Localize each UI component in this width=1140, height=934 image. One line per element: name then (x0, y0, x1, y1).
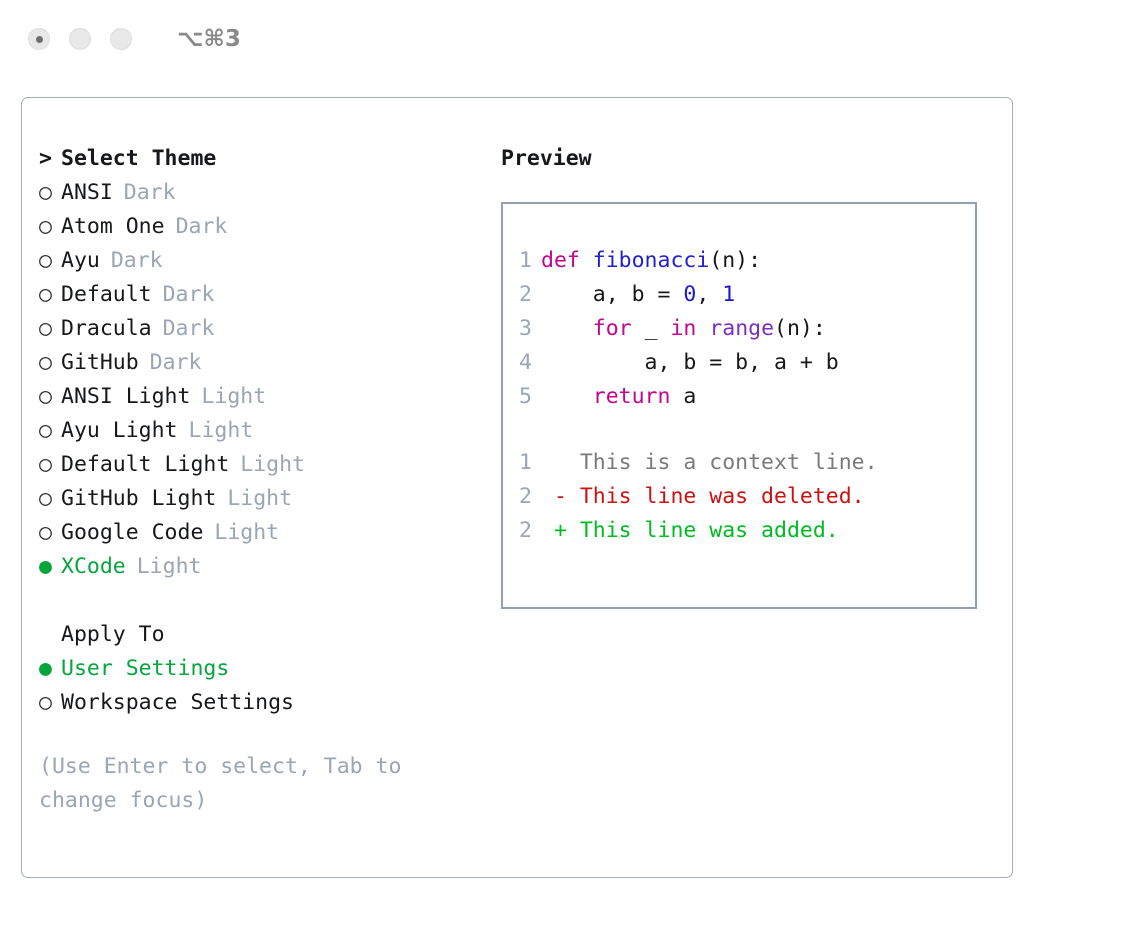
code-line: 5 return a (503, 384, 975, 418)
theme-list-item[interactable]: ○GitHub LightLight (39, 486, 469, 520)
line-number: 3 (503, 316, 541, 341)
code-token: a, b = b, a + b (541, 350, 839, 375)
maximize-button[interactable] (110, 28, 132, 50)
theme-list-item[interactable]: ○ANSIDark (39, 180, 469, 214)
code-line: 1def fibonacci(n): (503, 248, 975, 282)
apply-to-header: . Apply To (39, 622, 469, 656)
list-spacer (39, 588, 469, 622)
caret-icon: > (39, 148, 61, 170)
diff-line: 2 + This line was added. (503, 518, 975, 552)
theme-name: GitHub Light (61, 486, 216, 511)
diff-sign: + (541, 518, 567, 543)
theme-list-item[interactable]: ○AyuDark (39, 248, 469, 282)
radio-unselected-icon: ○ (39, 420, 61, 442)
diff-sign (541, 450, 567, 475)
radio-unselected-icon: ○ (39, 454, 61, 476)
theme-category: Dark (163, 316, 215, 341)
line-number: 1 (503, 450, 541, 475)
line-number: 2 (503, 518, 541, 543)
code-preview-box: 1def fibonacci(n):2 a, b = 0, 13 for _ i… (501, 202, 977, 609)
code-line: 3 for _ in range(n): (503, 316, 975, 350)
diff-line: 2 - This line was deleted. (503, 484, 975, 518)
radio-unselected-icon: ○ (39, 250, 61, 272)
theme-name: Atom One (61, 214, 165, 239)
theme-name: Ayu Light (61, 418, 178, 443)
theme-category: Light (227, 486, 292, 511)
apply-to-option[interactable]: ●User Settings (39, 656, 469, 690)
preview-column: Preview 1def fibonacci(n):2 a, b = 0, 13… (501, 146, 991, 609)
diff-sign: - (541, 484, 567, 509)
theme-list-item[interactable]: ●XCodeLight (39, 554, 469, 588)
active-dot-icon (36, 36, 43, 43)
apply-to-option[interactable]: ○Workspace Settings (39, 690, 469, 724)
diff-text: This line was added. (567, 518, 839, 543)
radio-unselected-icon: ○ (39, 352, 61, 374)
theme-name: Ayu (61, 248, 100, 273)
line-number: 2 (503, 484, 541, 509)
code-token (541, 384, 593, 409)
code-token: , (696, 282, 722, 307)
code-token: (n): (709, 248, 761, 273)
apply-to-label: Workspace Settings (61, 690, 294, 715)
theme-name: Dracula (61, 316, 152, 341)
code-gap (503, 418, 975, 450)
radio-selected-icon: ● (39, 658, 61, 680)
code-line: 4 a, b = b, a + b (503, 350, 975, 384)
theme-list-item[interactable]: ○DefaultDark (39, 282, 469, 316)
radio-unselected-icon: ○ (39, 182, 61, 204)
theme-list-item[interactable]: ○Ayu LightLight (39, 418, 469, 452)
theme-list-item[interactable]: ○DraculaDark (39, 316, 469, 350)
theme-category: Light (189, 418, 254, 443)
theme-category: Dark (150, 350, 202, 375)
apply-to-list: ●User Settings○Workspace Settings (39, 656, 469, 724)
code-token (541, 316, 593, 341)
code-token: a, b = (541, 282, 683, 307)
app-window: ⌥⌘3 > Select Theme ○ANSIDark○Atom OneDar… (0, 0, 1140, 934)
minimize-button[interactable] (69, 28, 91, 50)
radio-selected-icon: ● (39, 556, 61, 578)
theme-list-item[interactable]: ○Default LightLight (39, 452, 469, 486)
code-token: 0 (683, 282, 696, 307)
select-theme-title: Select Theme (61, 146, 216, 171)
theme-name: Default (61, 282, 152, 307)
code-token: (n): (774, 316, 826, 341)
code-token: _ (632, 316, 671, 341)
theme-category: Light (214, 520, 279, 545)
theme-category: Dark (163, 282, 215, 307)
line-number: 4 (503, 350, 541, 375)
code-token: 1 (722, 282, 735, 307)
theme-name: GitHub (61, 350, 139, 375)
close-button[interactable] (28, 28, 50, 50)
radio-unselected-icon: ○ (39, 522, 61, 544)
theme-category: Dark (176, 214, 228, 239)
diff-line: 1 This is a context line. (503, 450, 975, 484)
theme-category: Light (240, 452, 305, 477)
theme-list-item[interactable]: ○Atom OneDark (39, 214, 469, 248)
code-token: fibonacci (593, 248, 710, 273)
apply-to-label: User Settings (61, 656, 229, 681)
radio-unselected-icon: ○ (39, 284, 61, 306)
theme-name: ANSI Light (61, 384, 190, 409)
code-token: def (541, 248, 593, 273)
theme-list-item[interactable]: ○ANSI LightLight (39, 384, 469, 418)
theme-name: Default Light (61, 452, 229, 477)
radio-unselected-icon: ○ (39, 386, 61, 408)
theme-name: XCode (61, 554, 126, 579)
theme-list-item[interactable]: ○GitHubDark (39, 350, 469, 384)
code-token: range (709, 316, 774, 341)
code-line: 2 a, b = 0, 1 (503, 282, 975, 316)
select-theme-header: > Select Theme (39, 146, 469, 180)
theme-selection-column: > Select Theme ○ANSIDark○Atom OneDark○Ay… (39, 146, 469, 818)
radio-unselected-icon: ○ (39, 216, 61, 238)
diff-text: This is a context line. (567, 450, 878, 475)
apply-to-title: Apply To (61, 622, 165, 647)
line-number: 5 (503, 384, 541, 409)
radio-unselected-icon: ○ (39, 488, 61, 510)
theme-name: ANSI (61, 180, 113, 205)
code-token: a (670, 384, 696, 409)
line-number: 1 (503, 248, 541, 273)
code-token: in (670, 316, 696, 341)
theme-category: Dark (111, 248, 163, 273)
code-token: return (593, 384, 671, 409)
tui-content-panel: > Select Theme ○ANSIDark○Atom OneDark○Ay… (21, 97, 1013, 878)
theme-category: Dark (124, 180, 176, 205)
keyboard-hint-text: (Use Enter to select, Tab to change focu… (39, 750, 439, 818)
diff-sample: 1 This is a context line.2 - This line w… (503, 450, 975, 552)
preview-heading: Preview (501, 146, 991, 180)
diff-text: This line was deleted. (567, 484, 865, 509)
theme-category: Light (201, 384, 266, 409)
theme-list-item[interactable]: ○Google CodeLight (39, 520, 469, 554)
traffic-light-group (28, 28, 132, 50)
code-token (696, 316, 709, 341)
window-titlebar: ⌥⌘3 (0, 0, 1140, 78)
radio-unselected-icon: ○ (39, 692, 61, 714)
line-number: 2 (503, 282, 541, 307)
theme-category: Light (137, 554, 202, 579)
keyboard-shortcut-label: ⌥⌘3 (177, 26, 241, 52)
theme-name: Google Code (61, 520, 203, 545)
code-token: for (593, 316, 632, 341)
radio-unselected-icon: ○ (39, 318, 61, 340)
code-sample: 1def fibonacci(n):2 a, b = 0, 13 for _ i… (503, 248, 975, 418)
apply-to-indent: . (39, 624, 61, 646)
theme-list: ○ANSIDark○Atom OneDark○AyuDark○DefaultDa… (39, 180, 469, 588)
